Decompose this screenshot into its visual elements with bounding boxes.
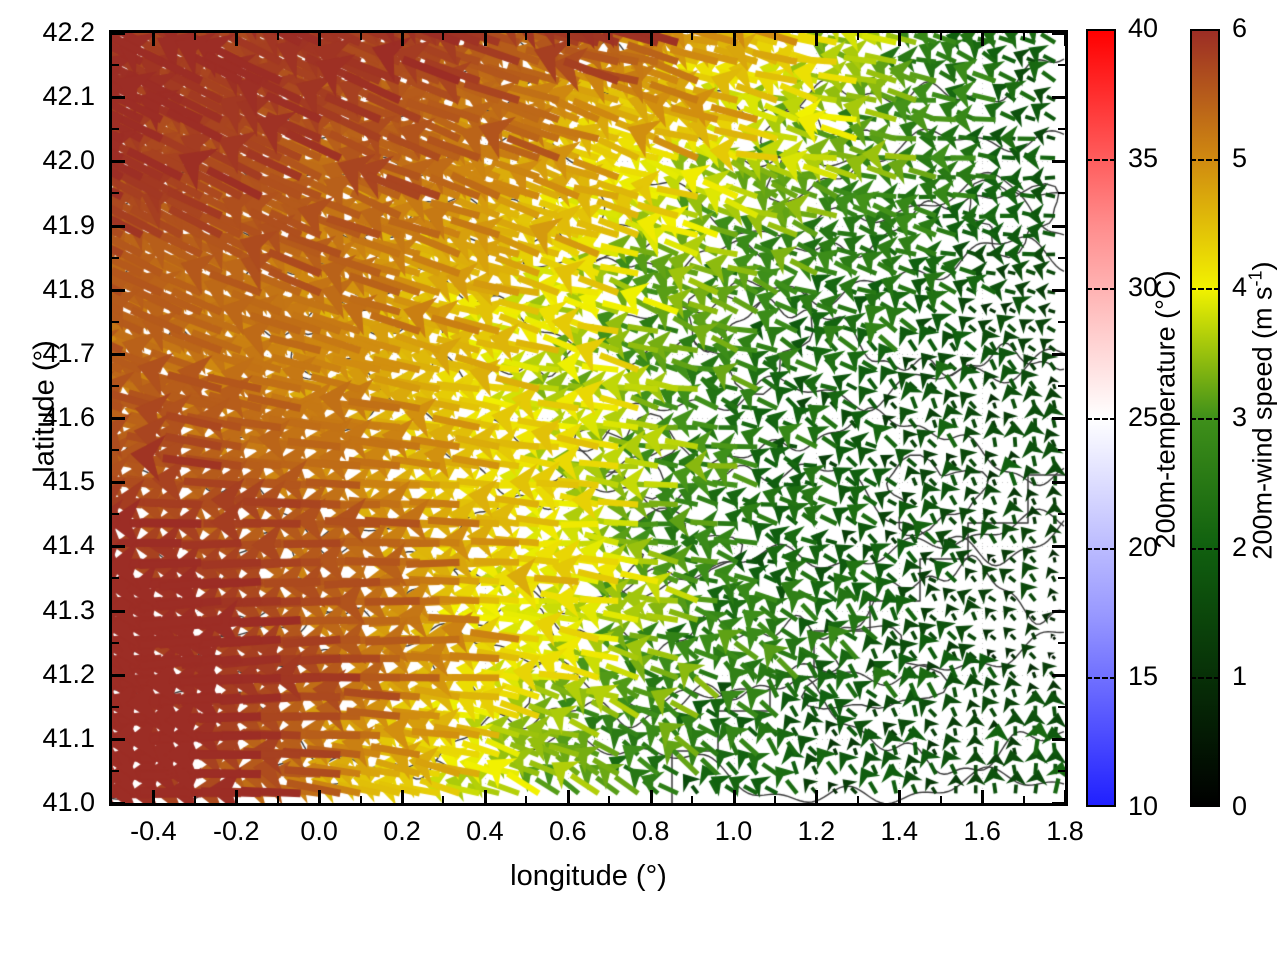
wind-speed-tick-mark-1: [1190, 677, 1220, 679]
x-major-tick: [1064, 790, 1067, 803]
x-minor-tick: [774, 33, 776, 40]
y-major-tick: [112, 545, 125, 548]
wind-speed-tick-label-0: 0: [1232, 793, 1247, 820]
y-tick-41.2: 41.2: [0, 661, 95, 688]
y-minor-tick: [1058, 706, 1065, 708]
y-major-tick: [112, 481, 125, 484]
x-major-tick: [152, 790, 155, 803]
y-major-tick: [112, 353, 125, 356]
x-major-tick: [898, 790, 901, 803]
x-tick-1.8: 1.8: [1005, 818, 1125, 845]
y-minor-tick: [1058, 192, 1065, 194]
temperature-tick-mark-25: [1086, 418, 1116, 420]
y-minor-tick: [1058, 128, 1065, 130]
x-major-tick: [235, 790, 238, 803]
x-minor-tick: [360, 33, 362, 40]
x-minor-tick: [608, 33, 610, 40]
x-minor-tick: [940, 796, 942, 803]
temperature-tick-label-10: 10: [1128, 793, 1158, 820]
y-major-tick: [112, 160, 125, 163]
x-major-tick: [401, 790, 404, 803]
temperature-tick-label-35: 35: [1128, 145, 1158, 172]
y-tick-41.1: 41.1: [0, 725, 95, 752]
y-minor-tick: [1058, 513, 1065, 515]
temperature-colorbar-title: 200m-temperature (°C): [1151, 260, 1182, 560]
y-axis-label: latitude (°): [29, 207, 62, 607]
y-minor-tick: [112, 449, 119, 451]
wind-speed-tick-label-1: 1: [1232, 663, 1247, 690]
y-tick-41.0: 41.0: [0, 789, 95, 816]
x-major-tick: [318, 790, 321, 803]
temperature-tick-mark-35: [1086, 159, 1116, 161]
x-minor-tick: [857, 33, 859, 40]
x-minor-tick: [691, 796, 693, 803]
x-minor-tick: [194, 796, 196, 803]
wind-speed-tick-label-5: 5: [1232, 145, 1247, 172]
x-major-tick: [401, 33, 404, 46]
y-minor-tick: [112, 513, 119, 515]
y-major-tick: [1052, 160, 1065, 163]
y-minor-tick: [112, 770, 119, 772]
x-minor-tick: [360, 796, 362, 803]
wind-speed-tick-mark-4: [1190, 288, 1220, 290]
y-major-tick: [1052, 96, 1065, 99]
wind-speed-tick-label-6: 6: [1232, 15, 1247, 42]
x-major-tick: [650, 790, 653, 803]
y-minor-tick: [112, 64, 119, 66]
x-axis-label: longitude (°): [109, 860, 1068, 893]
y-minor-tick: [1058, 577, 1065, 579]
wind-title-main: 200m-wind speed (m s: [1248, 286, 1278, 559]
plot-area: [109, 30, 1068, 806]
x-minor-tick: [525, 796, 527, 803]
x-major-tick: [815, 790, 818, 803]
y-major-tick: [1052, 674, 1065, 677]
wind-title-tail: ): [1248, 261, 1278, 270]
x-minor-tick: [940, 33, 942, 40]
temperature-tick-mark-30: [1086, 288, 1116, 290]
x-major-tick: [650, 33, 653, 46]
x-minor-tick: [442, 33, 444, 40]
wind-title-exponent: -1: [1246, 270, 1266, 286]
y-major-tick: [112, 738, 125, 741]
wind-speed-colorbar-title: 200m-wind speed (m s-1): [1246, 261, 1279, 561]
x-minor-tick: [857, 796, 859, 803]
x-major-tick: [898, 33, 901, 46]
figure-root: 41.041.141.241.341.441.541.641.741.841.9…: [0, 0, 1280, 960]
x-major-tick: [318, 33, 321, 46]
y-minor-tick: [112, 706, 119, 708]
y-major-tick: [112, 289, 125, 292]
y-major-tick: [112, 225, 125, 228]
y-major-tick: [1052, 738, 1065, 741]
x-minor-tick: [608, 796, 610, 803]
y-minor-tick: [1058, 64, 1065, 66]
x-major-tick: [484, 790, 487, 803]
y-minor-tick: [112, 642, 119, 644]
y-major-tick: [112, 674, 125, 677]
y-major-tick: [1052, 481, 1065, 484]
x-minor-tick: [442, 796, 444, 803]
x-minor-tick: [277, 33, 279, 40]
x-major-tick: [981, 33, 984, 46]
y-major-tick: [112, 802, 125, 805]
y-major-tick: [1052, 610, 1065, 613]
y-major-tick: [112, 32, 125, 35]
y-tick-42.0: 42.0: [0, 147, 95, 174]
x-major-tick: [567, 790, 570, 803]
temperature-tick-mark-20: [1086, 548, 1116, 550]
y-minor-tick: [1058, 642, 1065, 644]
x-minor-tick: [1023, 796, 1025, 803]
temperature-tick-mark-15: [1086, 677, 1116, 679]
y-major-tick: [112, 96, 125, 99]
y-minor-tick: [112, 321, 119, 323]
y-minor-tick: [112, 192, 119, 194]
x-minor-tick: [525, 33, 527, 40]
y-major-tick: [1052, 289, 1065, 292]
x-major-tick: [484, 33, 487, 46]
y-minor-tick: [112, 128, 119, 130]
y-minor-tick: [1058, 321, 1065, 323]
x-major-tick: [567, 33, 570, 46]
x-minor-tick: [1023, 33, 1025, 40]
x-minor-tick: [194, 33, 196, 40]
x-major-tick: [235, 33, 238, 46]
y-tick-42.1: 42.1: [0, 83, 95, 110]
y-major-tick: [1052, 353, 1065, 356]
x-major-tick: [733, 33, 736, 46]
wind-speed-tick-mark-3: [1190, 418, 1220, 420]
x-minor-tick: [277, 796, 279, 803]
y-major-tick: [1052, 545, 1065, 548]
y-minor-tick: [112, 385, 119, 387]
y-minor-tick: [1058, 449, 1065, 451]
y-minor-tick: [112, 577, 119, 579]
temperature-tick-label-40: 40: [1128, 15, 1158, 42]
y-major-tick: [112, 610, 125, 613]
y-major-tick: [112, 417, 125, 420]
temperature-tick-label-15: 15: [1128, 663, 1158, 690]
x-major-tick: [815, 33, 818, 46]
y-minor-tick: [1058, 770, 1065, 772]
x-major-tick: [981, 790, 984, 803]
y-major-tick: [1052, 417, 1065, 420]
y-major-tick: [1052, 225, 1065, 228]
y-minor-tick: [112, 257, 119, 259]
x-major-tick: [733, 790, 736, 803]
x-minor-tick: [691, 33, 693, 40]
wind-speed-tick-mark-5: [1190, 159, 1220, 161]
x-major-tick: [1064, 33, 1067, 46]
y-tick-42.2: 42.2: [0, 19, 95, 46]
x-major-tick: [152, 33, 155, 46]
wind-vector-field: [112, 33, 1065, 803]
x-minor-tick: [774, 796, 776, 803]
y-minor-tick: [1058, 385, 1065, 387]
wind-speed-tick-mark-2: [1190, 548, 1220, 550]
y-minor-tick: [1058, 257, 1065, 259]
